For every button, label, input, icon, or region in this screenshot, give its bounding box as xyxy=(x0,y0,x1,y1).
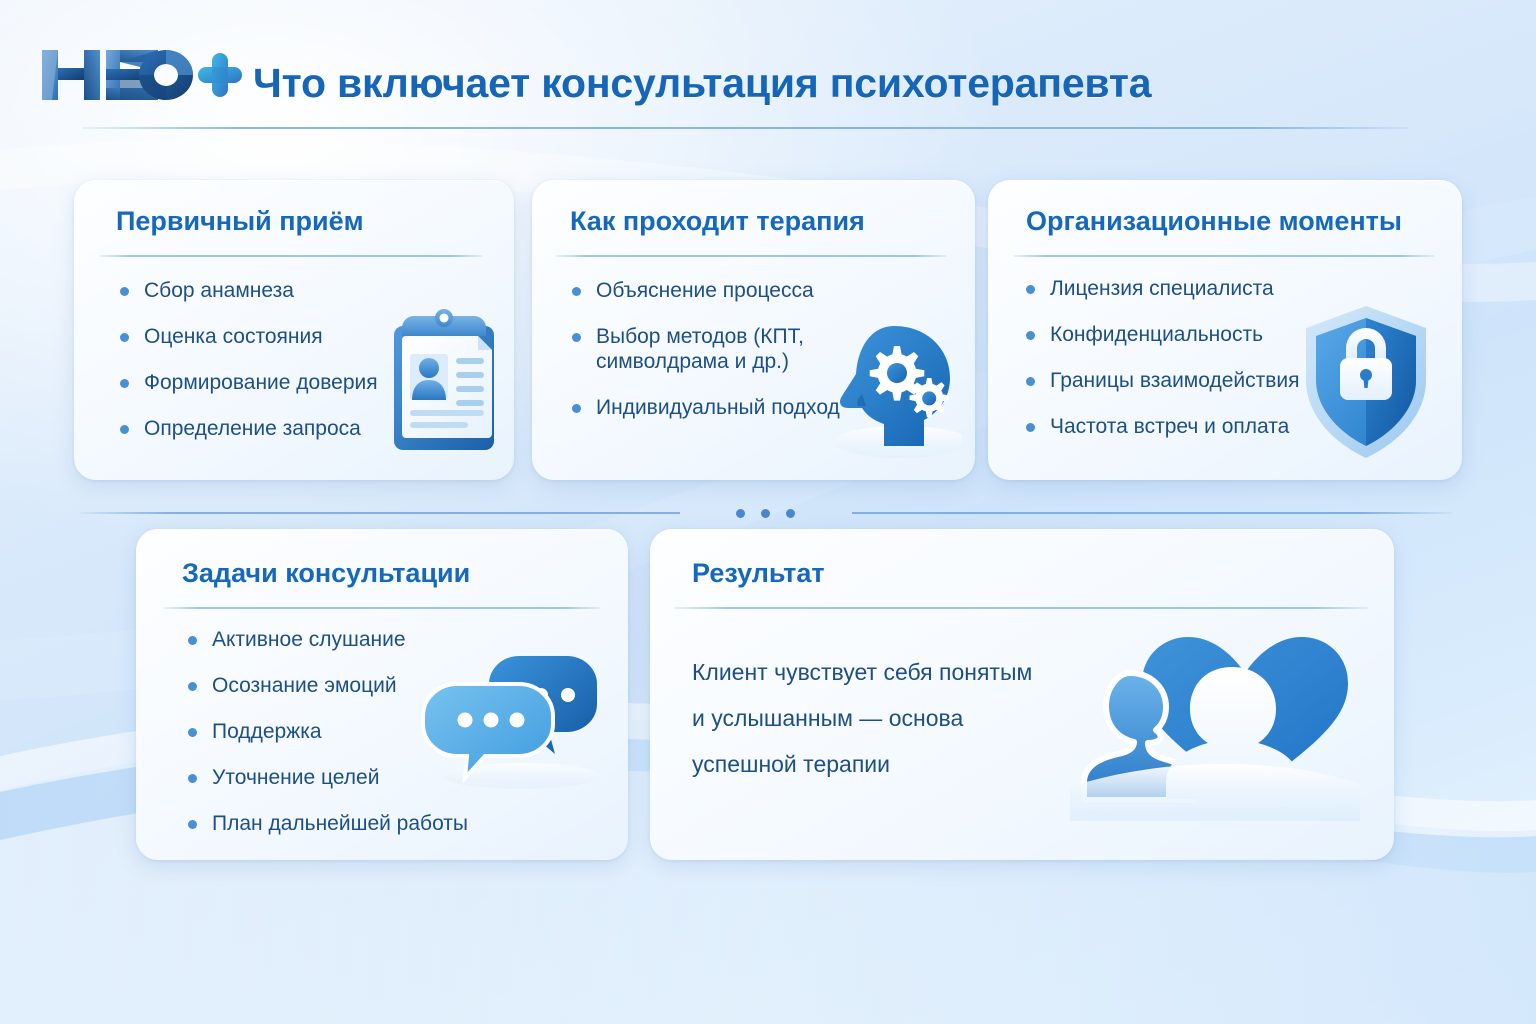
heart-couple-icon xyxy=(1070,621,1360,821)
bullet-dot xyxy=(120,333,129,342)
clipboard-person-icon xyxy=(384,308,504,454)
card-primary-intake[interactable]: Первичный приём Сбор анамнеза Оценка сос… xyxy=(74,180,514,480)
head-gears-icon xyxy=(832,320,962,460)
card-consultation-goals[interactable]: Задачи консультации Активное слушание Ос… xyxy=(136,529,628,860)
card-title-organizational: Организационные моменты xyxy=(1026,206,1402,237)
card-divider xyxy=(1014,255,1434,257)
bullet-dot xyxy=(120,425,129,434)
list-item: Активное слушание xyxy=(186,627,516,652)
card-divider xyxy=(674,607,1368,609)
divider-line-right xyxy=(852,512,1452,514)
page-header: Что включает консультация психотерапевта xyxy=(0,0,1536,140)
bullet-dot xyxy=(1026,423,1035,432)
divider-dot xyxy=(786,509,795,518)
list-item: Лицензия специалиста xyxy=(1024,276,1354,301)
divider-dot xyxy=(736,509,745,518)
card-organizational[interactable]: Организационные моменты Лицензия специал… xyxy=(988,180,1462,480)
bullet-dot xyxy=(120,287,129,296)
infographic-canvas: Что включает консультация психотерапевта… xyxy=(0,0,1536,1024)
page-title: Что включает консультация психотерапевта xyxy=(253,60,1151,107)
list-item: План дальнейшей работы xyxy=(186,811,516,836)
bullet-dot xyxy=(572,404,581,413)
card-title-primary-intake: Первичный приём xyxy=(116,206,364,237)
neo-plus-logo xyxy=(38,44,243,106)
card-how-therapy-works[interactable]: Как проходит терапия Объяснение процесса… xyxy=(532,180,975,480)
section-divider xyxy=(80,507,1452,519)
bullet-dot xyxy=(188,636,197,645)
bullet-dot xyxy=(120,379,129,388)
speech-bubbles-icon xyxy=(421,654,601,789)
shield-lock-icon xyxy=(1300,302,1432,462)
card-title-result: Результат xyxy=(692,558,825,589)
card-result[interactable]: Результат Клиент чувствует себя понятым … xyxy=(650,529,1394,860)
bullet-dot xyxy=(188,774,197,783)
divider-dot xyxy=(761,509,770,518)
card-title-consultation-goals: Задачи консультации xyxy=(182,558,470,589)
result-body: Клиент чувствует себя понятым и услышанн… xyxy=(692,649,1122,787)
list-item: Объяснение процесса xyxy=(570,278,880,303)
bullet-dot xyxy=(188,728,197,737)
list-item: Сбор анамнеза xyxy=(118,278,438,303)
header-divider xyxy=(82,127,1408,129)
divider-dots xyxy=(690,507,840,519)
card-divider xyxy=(100,255,482,257)
card-divider xyxy=(164,607,600,609)
bullet-dot xyxy=(1026,377,1035,386)
bullet-dot xyxy=(572,333,581,342)
bullet-dot xyxy=(188,820,197,829)
divider-line-left xyxy=(80,512,680,514)
bullet-dot xyxy=(572,287,581,296)
bullet-dot xyxy=(1026,285,1035,294)
result-line: успешной терапии xyxy=(692,741,1122,787)
card-divider xyxy=(556,255,946,257)
result-line: Клиент чувствует себя понятым xyxy=(692,649,1122,695)
bullet-dot xyxy=(188,682,197,691)
card-title-how-therapy-works: Как проходит терапия xyxy=(570,206,865,237)
result-line: и услышанным — основа xyxy=(692,695,1122,741)
bullet-dot xyxy=(1026,331,1035,340)
